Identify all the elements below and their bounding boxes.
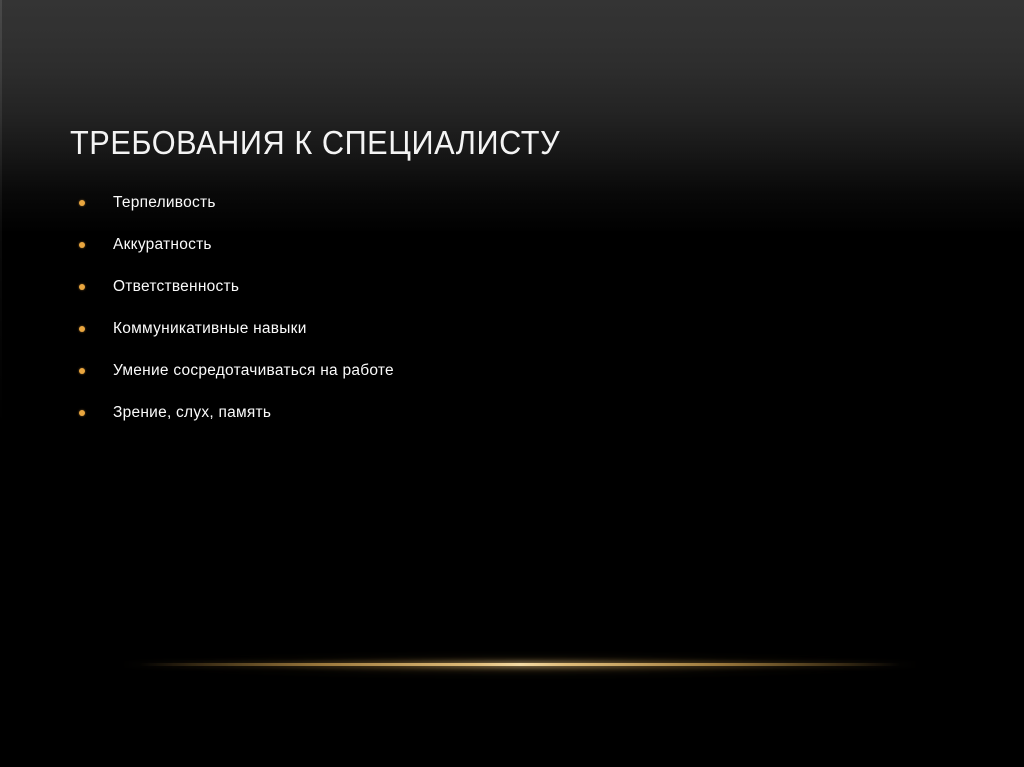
bullet-item-label: Ответственность <box>113 277 239 297</box>
bullet-dot-icon <box>79 326 85 332</box>
bullet-item-label: Аккуратность <box>113 235 212 255</box>
accent-divider <box>0 646 1024 684</box>
list-item: Терпеливость <box>72 182 832 224</box>
bullet-list: Терпеливость Аккуратность Ответственност… <box>72 182 832 434</box>
bullet-dot-icon <box>79 242 85 248</box>
bullet-item-label: Зрение, слух, память <box>113 403 271 423</box>
bullet-item-label: Терпеливость <box>113 193 216 213</box>
accent-divider-glow <box>130 650 920 680</box>
bullet-item-label: Коммуникативные навыки <box>113 319 307 339</box>
accent-divider-line <box>140 663 900 666</box>
list-item: Аккуратность <box>72 224 832 266</box>
bullet-dot-icon <box>79 284 85 290</box>
slide-title: ТРЕБОВАНИЯ К СПЕЦИАЛИСТУ <box>70 122 888 164</box>
bullet-dot-icon <box>79 200 85 206</box>
list-item: Ответственность <box>72 266 832 308</box>
list-item: Зрение, слух, память <box>72 392 832 434</box>
bullet-dot-icon <box>79 410 85 416</box>
list-item: Умение сосредотачиваться на работе <box>72 350 832 392</box>
bullet-dot-icon <box>79 368 85 374</box>
presentation-slide: ТРЕБОВАНИЯ К СПЕЦИАЛИСТУ Терпеливость Ак… <box>0 0 1024 767</box>
slide-left-edge-sheen <box>0 0 2 430</box>
bullet-item-label: Умение сосредотачиваться на работе <box>113 361 394 381</box>
accent-divider-halo <box>120 661 920 668</box>
list-item: Коммуникативные навыки <box>72 308 832 350</box>
